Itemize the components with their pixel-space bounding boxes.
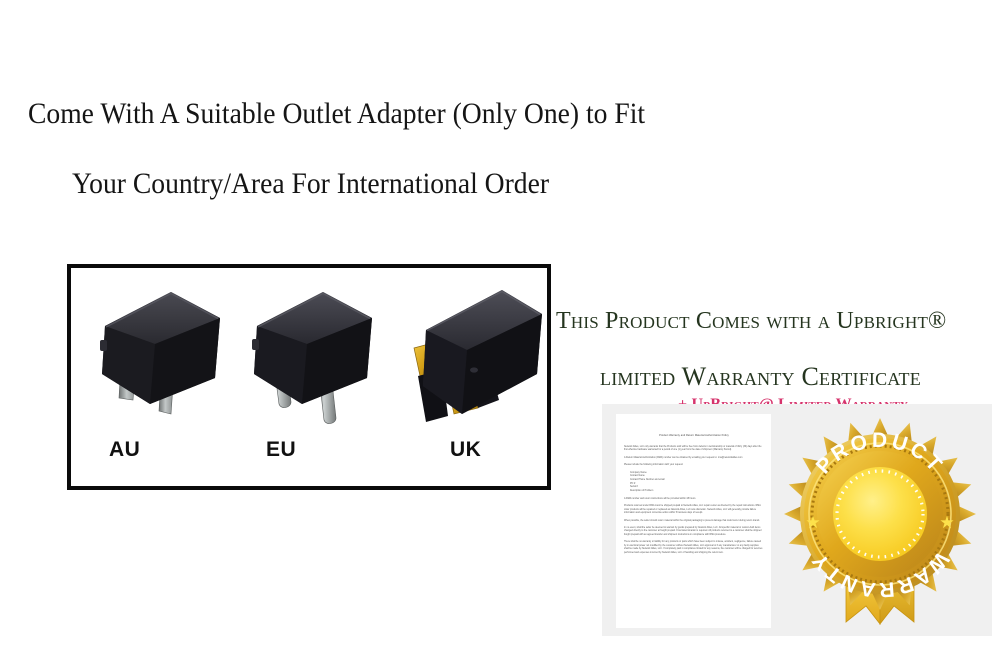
plug-row: AU: [71, 268, 547, 486]
plug-label-eu: EU: [266, 438, 296, 462]
document-paragraph: When possible, the seller should return …: [624, 520, 764, 523]
headline-line-1: Come With A Suitable Outlet Adapter (Onl…: [28, 98, 645, 130]
warranty-heading-secondary: limited Warranty Certificate: [600, 362, 921, 392]
seal-star-right-icon: ★: [939, 513, 954, 532]
warranty-heading-block: This Product Comes with a Upbright® limi…: [556, 308, 1000, 335]
uk-plug-icon: [396, 282, 551, 437]
document-paragraph: There shall be no warranty or liability …: [624, 541, 764, 555]
eu-plug-icon: [241, 282, 391, 437]
document-paragraph: In no event, shall the seller be deemed …: [624, 527, 764, 537]
document-paragraph: A Return Material Authorization (RMA) nu…: [624, 457, 764, 460]
list-item: Description of Problem: [630, 490, 764, 494]
product-warranty-seal-icon: PRODUCT WARRANTY ★ ★: [780, 410, 980, 630]
plug-item-au: AU: [89, 268, 239, 486]
document-list: Company Name Contact Name Contact Phone …: [624, 472, 764, 494]
document-list-intro: Please include the following information…: [624, 464, 764, 467]
adapter-showcase-box: AU: [67, 264, 551, 490]
warranty-heading-primary: This Product Comes with a Upbright®: [556, 308, 1000, 335]
document-body: Network Allies, LLC only warrants that t…: [624, 446, 764, 559]
plug-label-uk: UK: [450, 438, 481, 462]
plug-item-eu: EU: [241, 268, 391, 486]
plug-label-au: AU: [109, 438, 140, 462]
seal-star-left-icon: ★: [805, 513, 820, 532]
certificate-panel: Product Warranty and Return Material Aut…: [602, 404, 992, 636]
document-paragraph: Network Allies, LLC only warrants that t…: [624, 446, 764, 453]
document-paragraph: A RMA number and return instructions wil…: [624, 498, 764, 501]
document-title: Product Warranty and Return Material Aut…: [630, 434, 758, 437]
warranty-document: Product Warranty and Return Material Aut…: [616, 414, 771, 628]
au-plug-icon: [89, 282, 239, 437]
plug-item-uk: UK: [396, 268, 551, 486]
headline-line-2: Your Country/Area For International Orde…: [72, 168, 549, 200]
document-paragraph: Products returned under RMA must be ship…: [624, 505, 764, 515]
